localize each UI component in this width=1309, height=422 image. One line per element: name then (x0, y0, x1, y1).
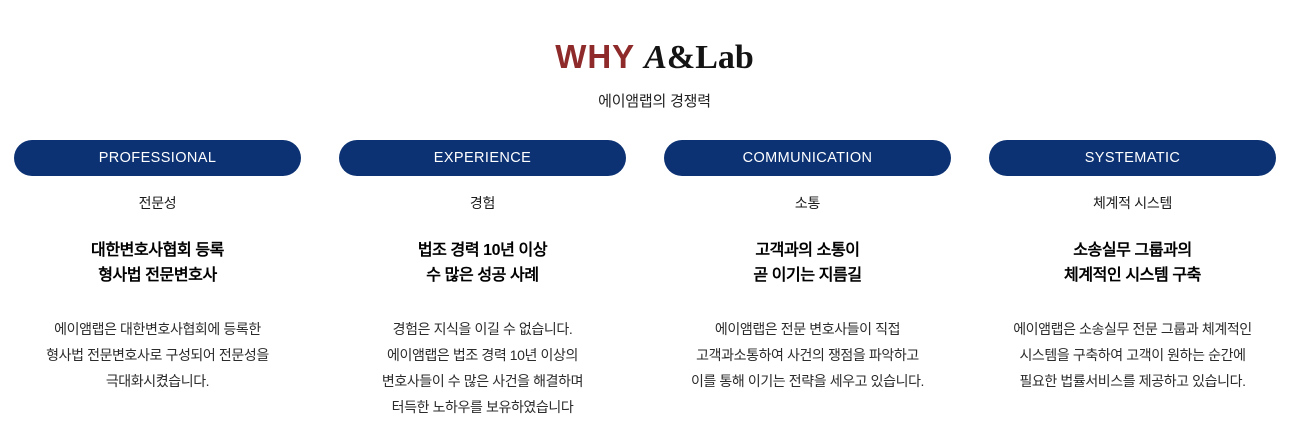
card-korean-label: 전문성 (14, 193, 301, 213)
card-description-line: 에이앰랩은 소송실무 전문 그룹과 체계적인 (989, 316, 1276, 342)
card-description: 에이앰랩은 대한변호사협회에 등록한 형사법 전문변호사로 구성되어 전문성을 … (14, 316, 301, 394)
card-headline-line: 수 많은 성공 사례 (339, 263, 626, 288)
card-description-line: 극대화시켰습니다. (14, 368, 301, 394)
card-description-line: 필요한 법률서비스를 제공하고 있습니다. (989, 368, 1276, 394)
card-description-line: 형사법 전문변호사로 구성되어 전문성을 (14, 342, 301, 368)
card-description-line: 터득한 노하우를 보유하였습니다 (339, 394, 626, 420)
badge-systematic[interactable]: SYSTEMATIC (989, 140, 1276, 176)
why-alab-section: WHYA&Lab 에이앰랩의 경쟁력 PROFESSIONAL 전문성 대한변호… (0, 0, 1309, 422)
card-korean-label: 경험 (339, 193, 626, 213)
brand-why-text: WHY (555, 38, 635, 75)
card-description-line: 에이앰랩은 전문 변호사들이 직접 (664, 316, 951, 342)
card-headline-line: 소송실무 그룹과의 (989, 238, 1276, 263)
card-headline-line: 형사법 전문변호사 (14, 263, 301, 288)
card-korean-label: 소통 (664, 193, 951, 213)
feature-card-experience: EXPERIENCE 경험 법조 경력 10년 이상 수 많은 성공 사례 경험… (339, 140, 626, 420)
card-description-line: 에이앰랩은 법조 경력 10년 이상의 (339, 342, 626, 368)
card-headline: 대한변호사협회 등록 형사법 전문변호사 (14, 238, 301, 288)
card-description: 에이앰랩은 전문 변호사들이 직접 고객과소통하여 사건의 쟁점을 파악하고 이… (664, 316, 951, 394)
card-headline: 고객과의 소통이 곧 이기는 지름길 (664, 238, 951, 288)
section-header: WHYA&Lab 에이앰랩의 경쟁력 (0, 0, 1309, 111)
card-headline-line: 법조 경력 10년 이상 (339, 238, 626, 263)
card-description-line: 경험은 지식을 이길 수 없습니다. (339, 316, 626, 342)
card-headline-line: 고객과의 소통이 (664, 238, 951, 263)
badge-experience[interactable]: EXPERIENCE (339, 140, 626, 176)
feature-card-systematic: SYSTEMATIC 체계적 시스템 소송실무 그룹과의 체계적인 시스템 구축… (989, 140, 1276, 420)
brand-name-initial: A (644, 39, 667, 76)
card-description: 에이앰랩은 소송실무 전문 그룹과 체계적인 시스템을 구축하여 고객이 원하는… (989, 316, 1276, 394)
card-headline: 법조 경력 10년 이상 수 많은 성공 사례 (339, 238, 626, 288)
feature-card-list: PROFESSIONAL 전문성 대한변호사협회 등록 형사법 전문변호사 에이… (14, 140, 1276, 420)
feature-card-professional: PROFESSIONAL 전문성 대한변호사협회 등록 형사법 전문변호사 에이… (14, 140, 301, 420)
card-description-line: 변호사들이 수 많은 사건을 해결하며 (339, 368, 626, 394)
card-description-line: 이를 통해 이기는 전략을 세우고 있습니다. (664, 368, 951, 394)
card-headline-line: 대한변호사협회 등록 (14, 238, 301, 263)
card-description-line: 시스템을 구축하여 고객이 원하는 순간에 (989, 342, 1276, 368)
feature-card-communication: COMMUNICATION 소통 고객과의 소통이 곧 이기는 지름길 에이앰랩… (664, 140, 951, 420)
brand-name-text: A&Lab (644, 39, 754, 76)
card-korean-label: 체계적 시스템 (989, 193, 1276, 213)
card-description-line: 에이앰랩은 대한변호사협회에 등록한 (14, 316, 301, 342)
section-subtitle: 에이앰랩의 경쟁력 (0, 90, 1309, 111)
brand-name-rest: &Lab (667, 39, 754, 76)
card-description: 경험은 지식을 이길 수 없습니다. 에이앰랩은 법조 경력 10년 이상의 변… (339, 316, 626, 420)
badge-professional[interactable]: PROFESSIONAL (14, 140, 301, 176)
card-headline-line: 곧 이기는 지름길 (664, 263, 951, 288)
badge-communication[interactable]: COMMUNICATION (664, 140, 951, 176)
card-headline-line: 체계적인 시스템 구축 (989, 263, 1276, 288)
brand-title: WHYA&Lab (0, 37, 1309, 78)
card-description-line: 고객과소통하여 사건의 쟁점을 파악하고 (664, 342, 951, 368)
card-headline: 소송실무 그룹과의 체계적인 시스템 구축 (989, 238, 1276, 288)
